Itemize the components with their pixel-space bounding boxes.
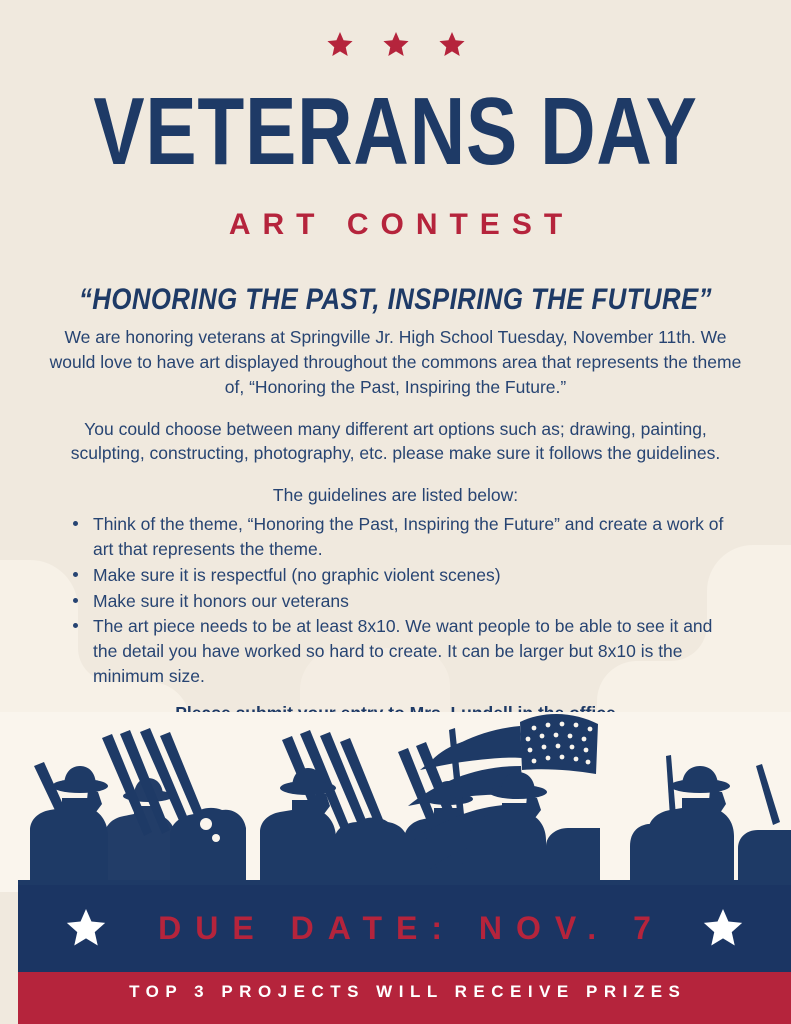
guidelines-lead-in: The guidelines are listed below: <box>45 483 746 508</box>
guidelines-list: Think of the theme, “Honoring the Past, … <box>45 512 746 689</box>
theme-tagline: “HONORING THE PAST, INSPIRING THE FUTURE… <box>55 283 735 317</box>
due-date-text: DUE DATE: NOV. 7 <box>144 910 665 947</box>
veterans-day-art-contest-poster: VETERANS DAY ART CONTEST “HONORING THE P… <box>0 0 791 1024</box>
list-item: Make sure it honors our veterans <box>71 589 738 614</box>
star-icon <box>383 32 409 57</box>
star-icon <box>703 909 743 947</box>
due-date-band: DUE DATE: NOV. 7 <box>18 885 791 972</box>
page-subtitle: ART CONTEST <box>0 208 791 242</box>
list-item: Make sure it is respectful (no graphic v… <box>71 563 738 588</box>
star-icon <box>327 32 353 57</box>
star-row <box>0 32 791 57</box>
star-icon <box>439 32 465 57</box>
body-content: We are honoring veterans at Springville … <box>45 325 746 752</box>
star-icon <box>66 909 106 947</box>
page-title: VETERANS DAY <box>79 84 712 180</box>
intro-paragraph: We are honoring veterans at Springville … <box>45 325 746 400</box>
list-item: The art piece needs to be at least 8x10.… <box>71 614 738 689</box>
soldiers-silhouette-artwork <box>0 712 791 892</box>
list-item: Think of the theme, “Honoring the Past, … <box>71 512 738 562</box>
options-paragraph: You could choose between many different … <box>45 417 746 467</box>
prize-text: TOP 3 PROJECTS WILL RECEIVE PRIZES <box>123 982 687 1002</box>
prize-band: TOP 3 PROJECTS WILL RECEIVE PRIZES <box>18 972 791 1024</box>
